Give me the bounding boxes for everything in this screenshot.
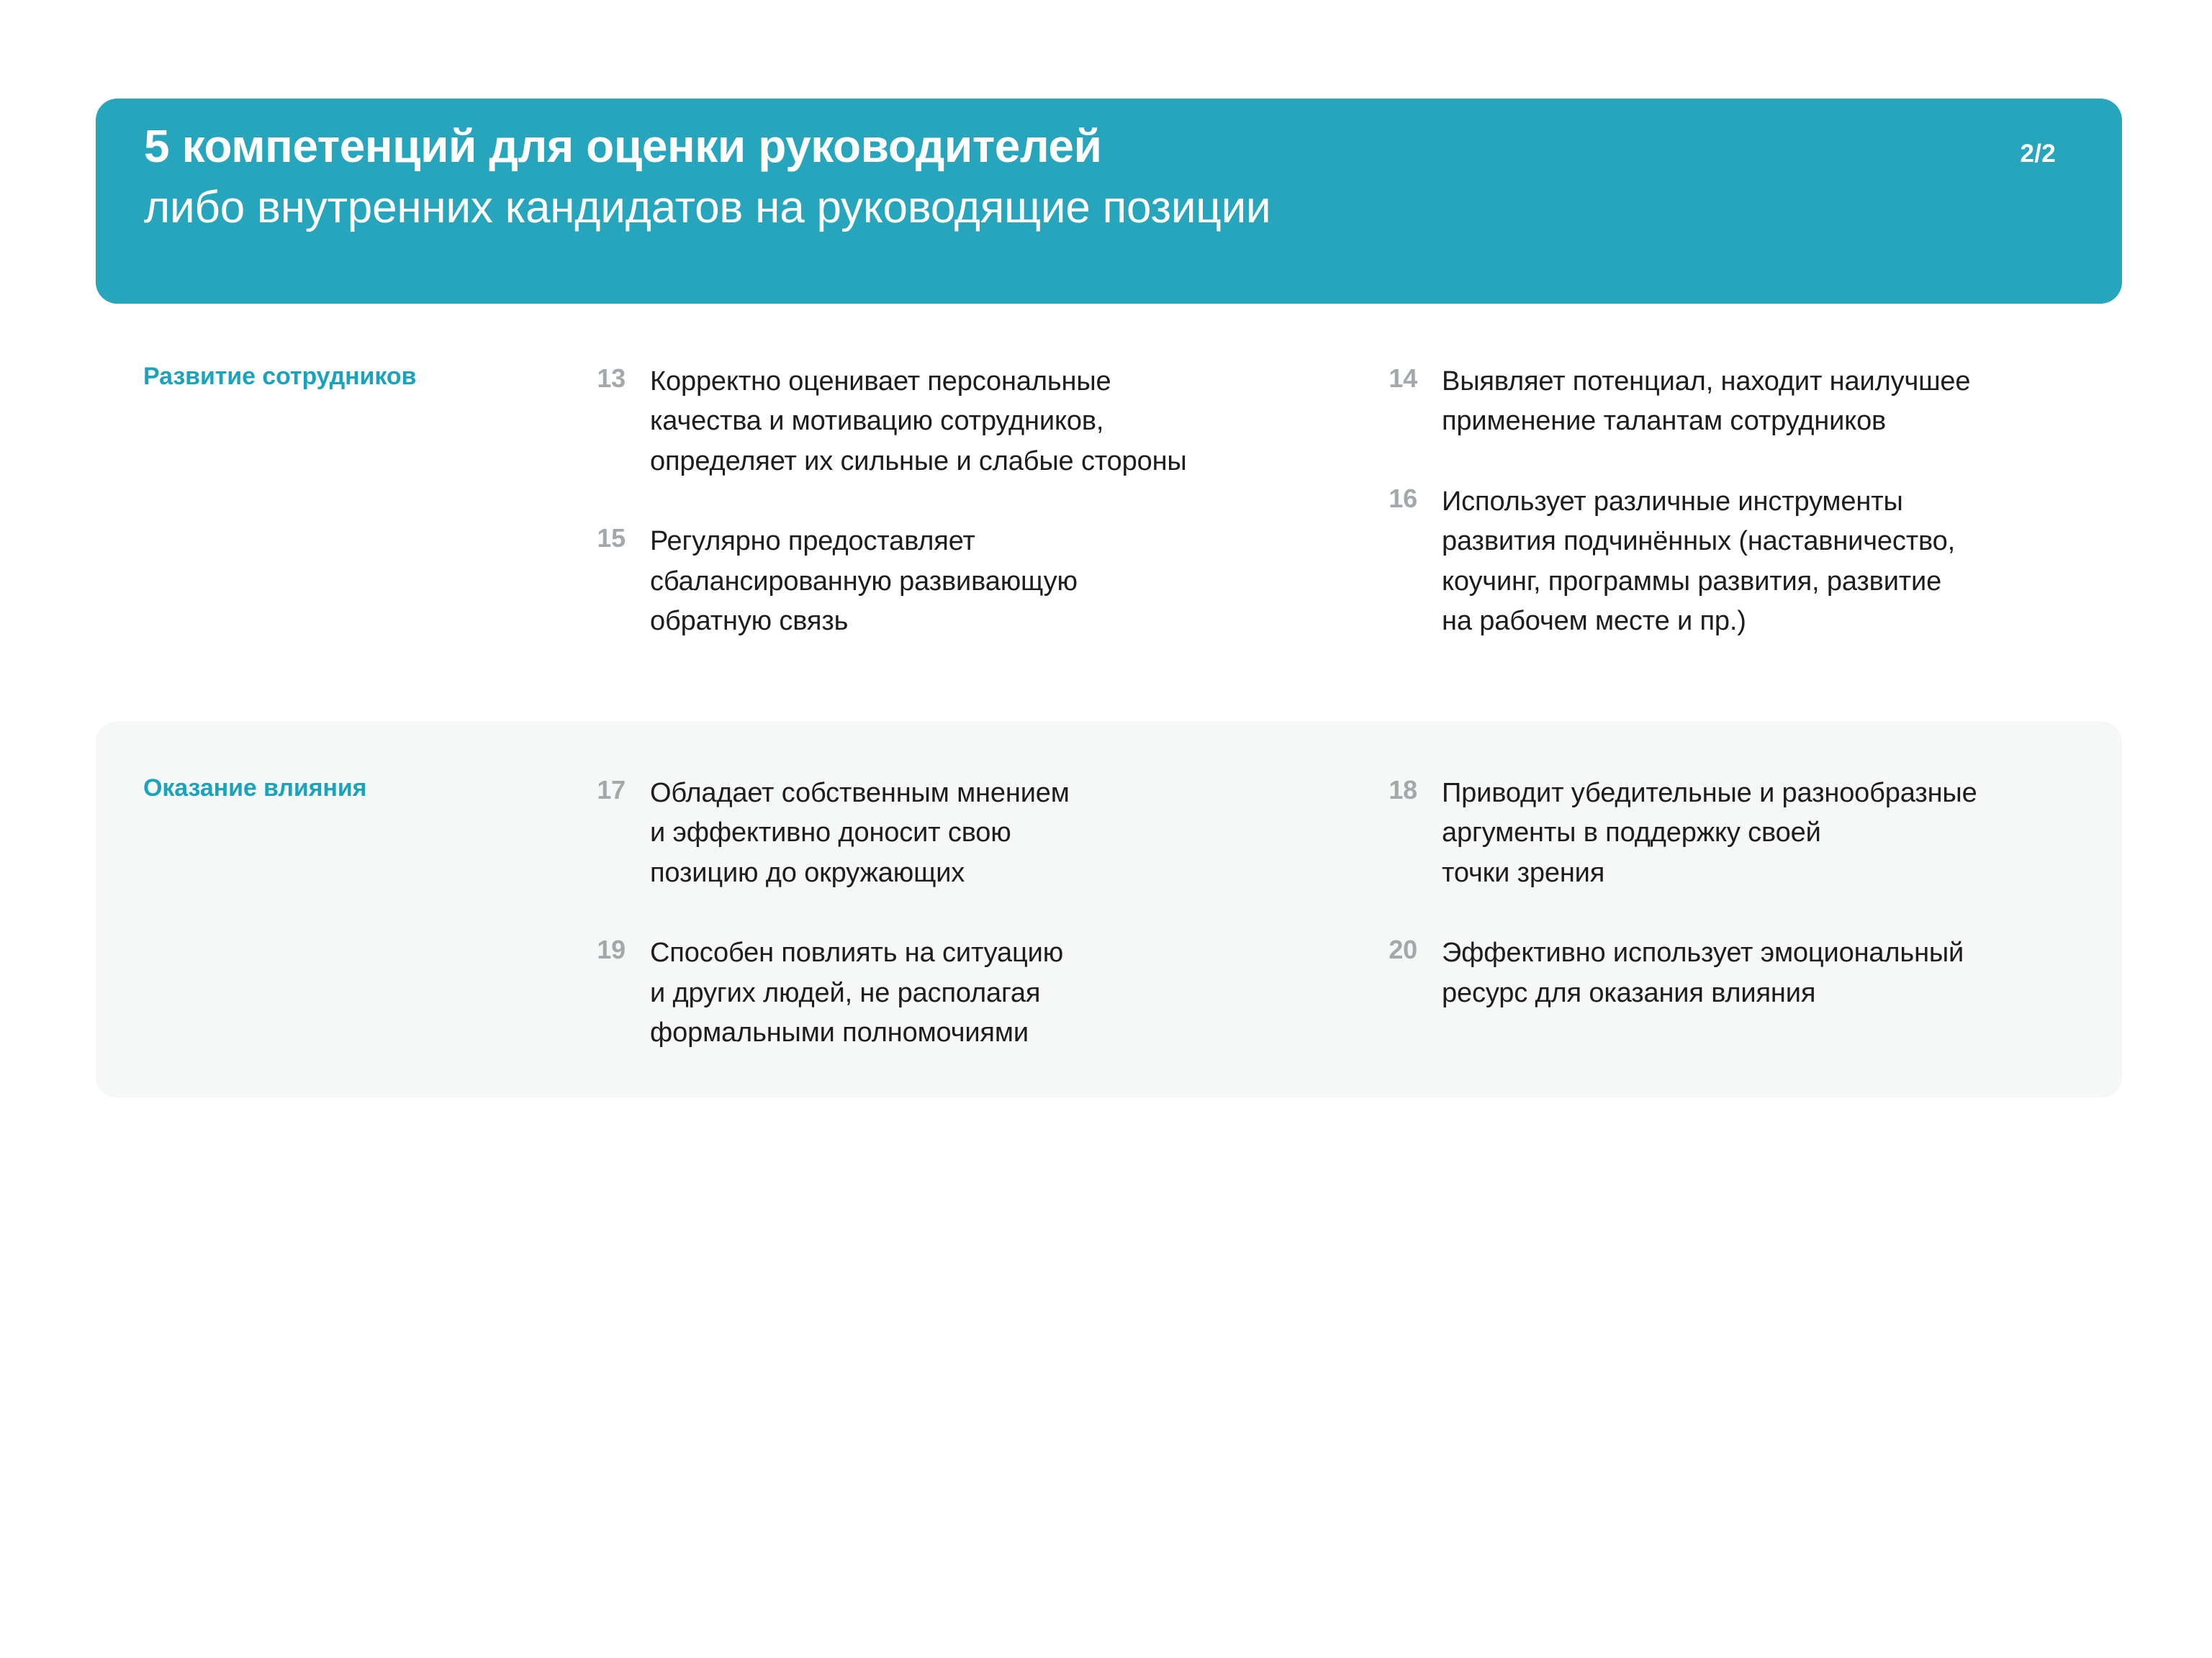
slide-canvas: 5 компетенций для оценки руководителей л… [0,0,2212,1658]
competency-item: 18 Приводит убедительные и разнообразные… [1363,774,2162,893]
competency-text-line: Регулярно предоставляет [650,522,1363,561]
page-subtitle: либо внутренних кандидатов на руководящи… [144,179,1872,236]
competency-text-line: и других людей, не располагая [650,974,1363,1013]
competency-item: 14 Выявляет потенциал, находит наилучшее… [1363,362,2162,442]
competency-number: 20 [1363,935,1417,965]
section-0-left-column: 13 Корректно оценивает персональные каче… [571,362,1363,642]
competency-item: 13 Корректно оценивает персональные каче… [571,362,1363,481]
competency-text-line: развития подчинённых (наставничество, [1442,522,2162,561]
competency-text-line: коучинг, программы развития, развитие [1442,562,2162,602]
competency-text: Обладает собственным мнением и эффективн… [650,774,1363,893]
competency-text-line: качества и мотивацию сотрудников, [650,402,1363,441]
competency-text-line: аргументы в поддержку своей [1442,813,2162,853]
competency-text-line: Способен повлиять на ситуацию [650,933,1363,973]
header-banner: 5 компетенций для оценки руководителей л… [96,99,2122,304]
competency-text-line: сбалансированную развивающую [650,562,1363,602]
competency-number: 14 [1363,363,1417,394]
competency-item: 20 Эффективно использует эмоциональный р… [1363,933,2162,1013]
competency-text-line: обратную связь [650,602,1363,641]
section-1-left-column: 17 Обладает собственным мнением и эффект… [571,774,1363,1054]
competency-item: 15 Регулярно предоставляет сбалансирован… [571,522,1363,641]
competency-text: Корректно оценивает персональные качеств… [650,362,1363,481]
competency-text-line: Обладает собственным мнением [650,774,1363,813]
competency-item: 17 Обладает собственным мнением и эффект… [571,774,1363,893]
competency-number: 18 [1363,775,1417,805]
section-1-right-column: 18 Приводит убедительные и разнообразные… [1363,774,2162,1013]
competency-text: Приводит убедительные и разнообразные ар… [1442,774,2162,893]
competency-text-line: Выявляет потенциал, находит наилучшее [1442,362,2162,402]
competency-text: Регулярно предоставляет сбалансированную… [650,522,1363,641]
page-title: 5 компетенций для оценки руководителей [144,117,1872,176]
competency-item: 19 Способен повлиять на ситуацию и други… [571,933,1363,1053]
section-label-razvitie-sotrudnikov: Развитие сотрудников [143,362,546,391]
competency-text-line: и эффективно доносит свою [650,813,1363,853]
section-0-right-column: 14 Выявляет потенциал, находит наилучшее… [1363,362,2162,642]
competency-item: 16 Использует различные инструменты разв… [1363,482,2162,642]
page-indicator: 2/2 [2020,140,2056,168]
competency-text-line: применение талантам сотрудников [1442,402,2162,441]
competency-text-line: Эффективно использует эмоциональный [1442,933,2162,973]
competency-text-line: Использует различные инструменты [1442,482,2162,522]
competency-number: 17 [571,775,626,805]
competency-text: Эффективно использует эмоциональный ресу… [1442,933,2162,1013]
header-text-block: 5 компетенций для оценки руководителей л… [144,117,1872,236]
competency-text: Выявляет потенциал, находит наилучшее пр… [1442,362,2162,442]
competency-number: 15 [571,523,626,553]
competency-text-line: ресурс для оказания влияния [1442,974,2162,1013]
competency-text-line: определяет их сильные и слабые стороны [650,442,1363,481]
competency-text-line: Приводит убедительные и разнообразные [1442,774,2162,813]
section-label-okazanie-vliyaniya: Оказание влияния [143,774,546,803]
competency-text: Способен повлиять на ситуацию и других л… [650,933,1363,1053]
competency-text-line: Корректно оценивает персональные [650,362,1363,402]
competency-number: 19 [571,935,626,965]
competency-text-line: точки зрения [1442,853,2162,893]
section-okazanie-vliyaniya: Оказание влияния 17 Обладает собственным… [96,722,2122,1097]
competency-text-line: формальными полномочиями [650,1013,1363,1053]
competency-number: 13 [571,363,626,394]
competency-text-line: на рабочем месте и пр.) [1442,602,2162,641]
competency-text: Использует различные инструменты развити… [1442,482,2162,642]
section-razvitie-sotrudnikov: Развитие сотрудников 13 Корректно оценив… [96,362,2122,722]
competency-text-line: позицию до окружающих [650,853,1363,893]
competency-number: 16 [1363,484,1417,514]
